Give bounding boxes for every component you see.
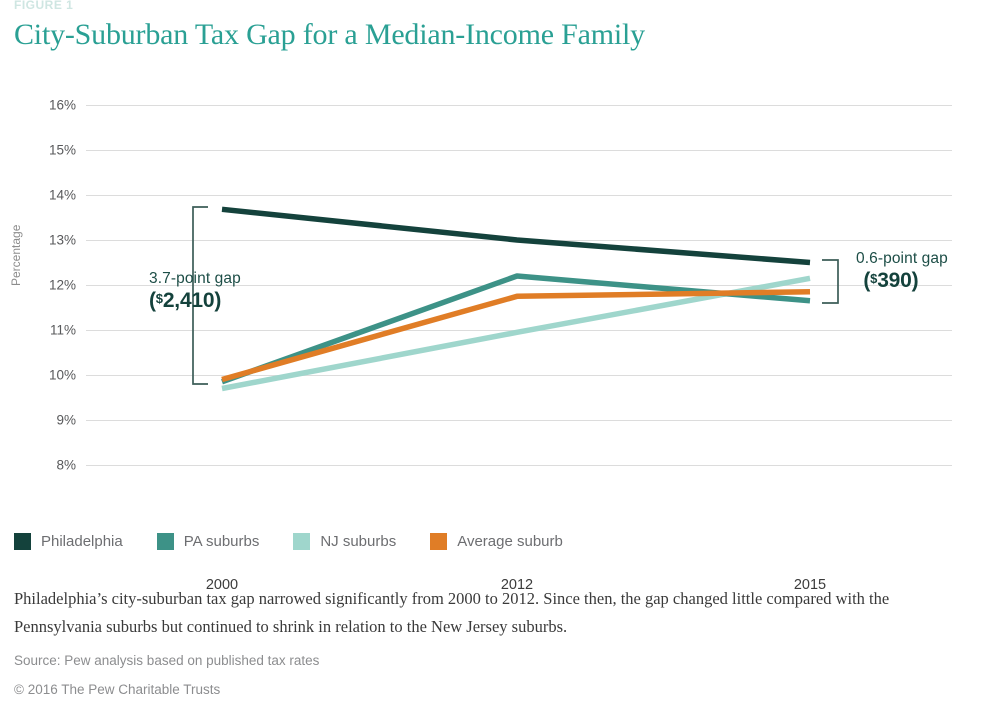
y-tick-label: 15% xyxy=(49,143,76,158)
legend-item-average-suburb[interactable]: Average suburb xyxy=(430,533,563,550)
paren-open: ( xyxy=(149,289,156,312)
legend-swatch-icon xyxy=(157,533,174,550)
gridline: 9% xyxy=(86,420,952,421)
annotation-right-gap: 0.6-point gap xyxy=(856,250,948,268)
legend-item-pa-suburbs[interactable]: PA suburbs xyxy=(157,533,260,550)
annotation-left: 3.7-point gap ($2,410) xyxy=(149,270,241,313)
legend-item-nj-suburbs[interactable]: NJ suburbs xyxy=(293,533,396,550)
annotation-left-gap: 3.7-point gap xyxy=(149,270,241,288)
paren-close: ) xyxy=(912,269,919,292)
page-title: City-Suburban Tax Gap for a Median-Incom… xyxy=(14,17,645,53)
y-axis-title: Percentage xyxy=(9,225,23,286)
y-tick-label: 8% xyxy=(56,458,76,473)
y-tick-label: 14% xyxy=(49,188,76,203)
y-tick-label: 12% xyxy=(49,278,76,293)
y-tick-label: 9% xyxy=(56,413,76,428)
gridline: 15% xyxy=(86,150,952,151)
gridline: 16% xyxy=(86,105,952,106)
figure-stub-label: FIGURE 1 xyxy=(14,0,73,12)
gridline: 11% xyxy=(86,330,952,331)
chart-page: FIGURE 1 City-Suburban Tax Gap for a Med… xyxy=(0,0,990,716)
legend-label: Philadelphia xyxy=(41,533,123,550)
legend-label: PA suburbs xyxy=(184,533,260,550)
chart-legend: Philadelphia PA suburbs NJ suburbs Avera… xyxy=(14,533,597,550)
currency-symbol: $ xyxy=(156,291,163,306)
legend-label: Average suburb xyxy=(457,533,563,550)
paren-close: ) xyxy=(214,289,221,312)
gridline: 10% xyxy=(86,375,952,376)
y-tick-label: 11% xyxy=(50,323,76,338)
chart-caption: Philadelphia’s city-suburban tax gap nar… xyxy=(14,585,974,641)
gridline: 8% xyxy=(86,465,952,466)
amount-value: 2,410 xyxy=(163,289,215,312)
annotation-right: 0.6-point gap ($390) xyxy=(856,250,948,293)
legend-swatch-icon xyxy=(430,533,447,550)
chart-copyright: © 2016 The Pew Charitable Trusts xyxy=(14,682,220,697)
amount-value: 390 xyxy=(877,269,911,292)
annotation-left-amount: ($2,410) xyxy=(149,289,241,313)
y-tick-label: 13% xyxy=(49,233,76,248)
chart-source: Source: Pew analysis based on published … xyxy=(14,653,319,668)
gridline: 14% xyxy=(86,195,952,196)
legend-swatch-icon xyxy=(14,533,31,550)
y-tick-label: 16% xyxy=(49,98,76,113)
legend-swatch-icon xyxy=(293,533,310,550)
legend-label: NJ suburbs xyxy=(320,533,396,550)
y-tick-label: 10% xyxy=(49,368,76,383)
gridline: 13% xyxy=(86,240,952,241)
legend-item-philadelphia[interactable]: Philadelphia xyxy=(14,533,123,550)
annotation-right-amount: ($390) xyxy=(856,269,948,293)
